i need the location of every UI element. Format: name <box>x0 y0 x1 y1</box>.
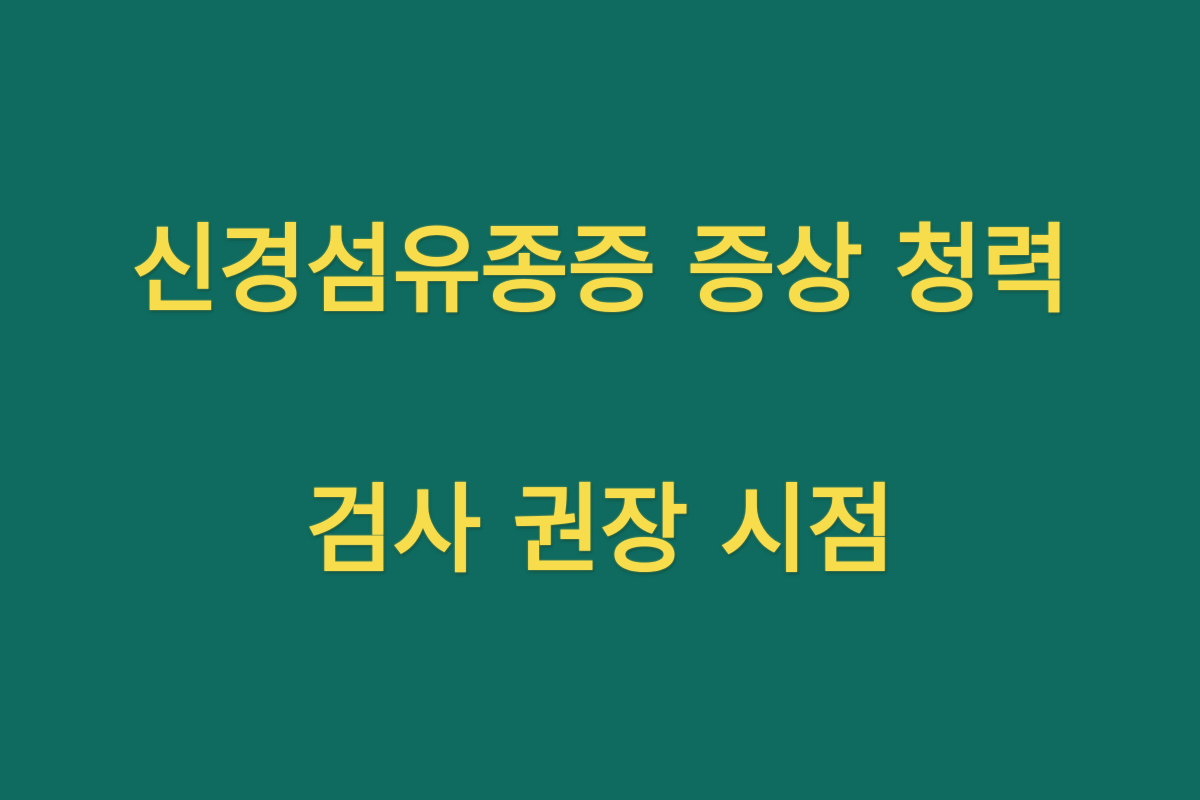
title-card: 신경섬유종증 증상 청력 검사 권장 시점 <box>0 0 1200 800</box>
page-title: 신경섬유종증 증상 청력 검사 권장 시점 <box>0 75 1200 725</box>
headline-line-2: 검사 권장 시점 <box>40 465 1160 595</box>
headline-line-1: 신경섬유종증 증상 청력 <box>40 205 1160 335</box>
